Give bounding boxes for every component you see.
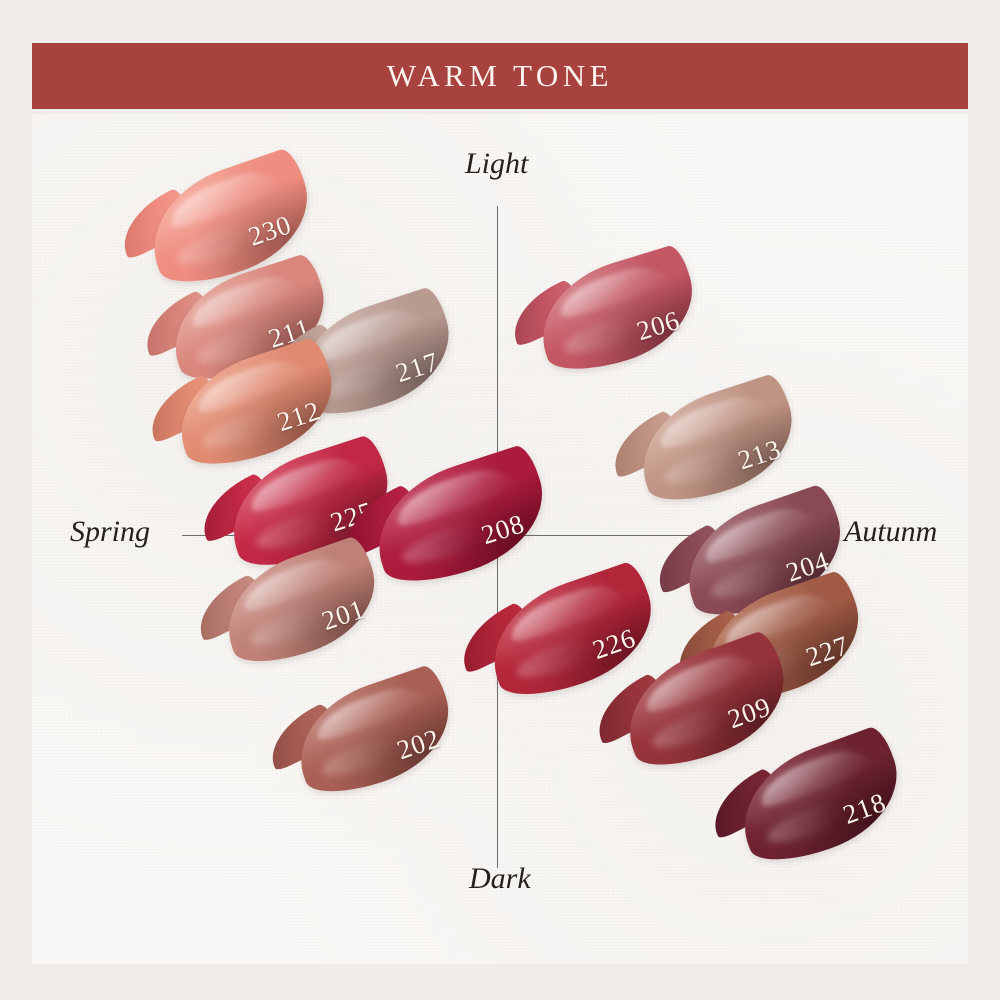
lipstick-swatch-202[interactable]: 202 [283,663,466,806]
page-title: WARM TONE [387,58,613,94]
lipstick-swatch-213[interactable]: 213 [626,372,808,514]
lipstick-swatch-208[interactable]: 208 [360,442,560,595]
axis-label-autumn: Autunm [844,515,937,549]
warm-tone-shade-chart: WARM TONE Light Dark Spring Autunm 23021… [0,0,1000,1000]
swatch-depth-shading [526,243,707,383]
swatch-body [360,442,560,595]
swatch-depth-shading [725,724,915,875]
swatch-body [626,372,808,514]
axis-label-dark: Dark [469,862,531,896]
lipstick-swatch-218[interactable]: 218 [725,724,915,875]
swatch-depth-shading [626,372,808,514]
title-band: WARM TONE [32,43,968,109]
axis-label-light: Light [465,147,528,181]
axis-label-spring: Spring [70,515,150,549]
lipstick-swatch-206[interactable]: 206 [526,243,707,383]
swatch-depth-shading [283,663,466,806]
swatch-body [725,724,915,875]
swatch-body [283,663,466,806]
chart-canvas: Light Dark Spring Autunm 230211217212206… [32,114,968,964]
swatch-body [526,243,707,383]
swatch-depth-shading [360,442,560,595]
